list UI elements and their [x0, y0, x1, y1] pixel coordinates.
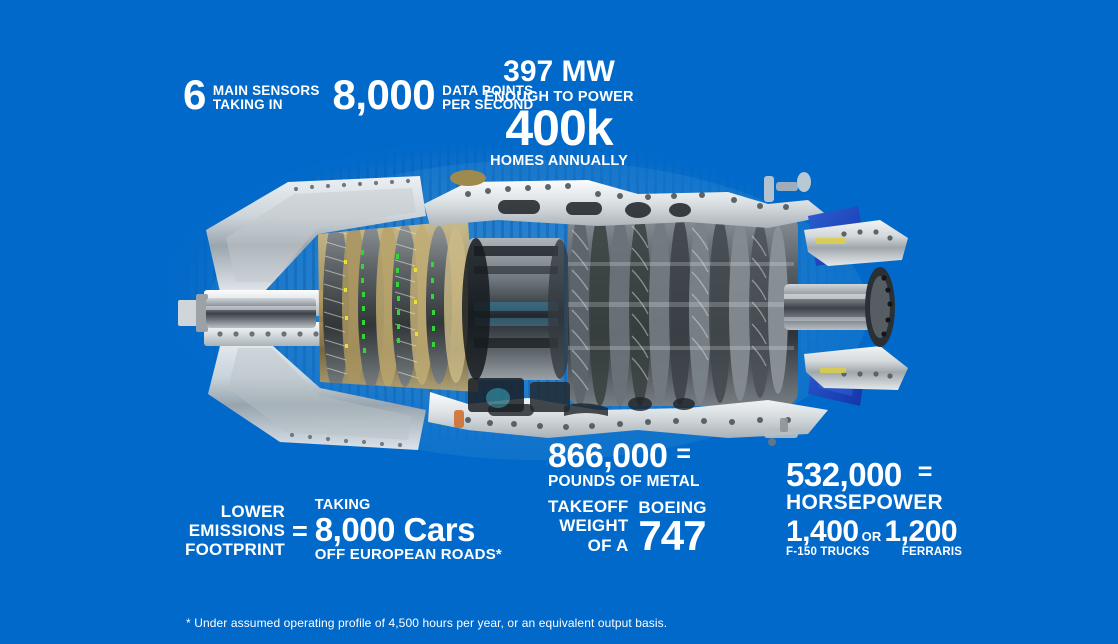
infographic-canvas: 6 MAIN SENSORS TAKING IN 8,000 DATA POIN… — [0, 0, 1118, 644]
emissions-equivalent: TAKING 8,000 Cars OFF EUROPEAN ROADS* — [315, 498, 502, 563]
takeoff-line3: OF A — [548, 536, 628, 555]
horsepower-value-row: 532,000 = — [786, 458, 982, 490]
stat-horsepower: 532,000 = HORSEPOWER 1,400 OR 1,200 F-15… — [786, 458, 982, 559]
emissions-line1: LOWER — [185, 502, 285, 521]
gas-turbine-photo — [168, 142, 908, 472]
takeoff-line1: TAKEOFF — [548, 497, 628, 516]
weight-pounds-value: 866,000 — [548, 441, 667, 472]
weight-comparison-row: TAKEOFF WEIGHT OF A BOEING 747 — [548, 497, 707, 556]
trucks-label: F-150 TRUCKS — [786, 547, 882, 559]
data-rate-label-line1: DATA POINTS — [442, 84, 533, 98]
horsepower-or-label: OR — [862, 530, 882, 543]
boeing-model-number: 747 — [638, 516, 706, 556]
boeing-747-block: BOEING 747 — [638, 499, 706, 556]
data-rate-label-line2: PER SECOND — [442, 98, 533, 112]
stat-sensors: 6 MAIN SENSORS TAKING IN 8,000 DATA POIN… — [183, 76, 533, 115]
stat-emissions: LOWER EMISSIONS FOOTPRINT = TAKING 8,000… — [185, 498, 502, 563]
emissions-line3: FOOTPRINT — [185, 540, 285, 559]
emissions-label: LOWER EMISSIONS FOOTPRINT — [185, 502, 285, 559]
sensor-label-line1: MAIN SENSORS — [213, 84, 320, 98]
emissions-equals-sign: = — [292, 516, 308, 547]
data-rate-label: DATA POINTS PER SECOND — [442, 84, 533, 112]
horsepower-comparison-labels: F-150 TRUCKS FERRARIS — [786, 547, 982, 559]
weight-pounds-label: POUNDS OF METAL — [548, 474, 707, 490]
sensor-label-line2: TAKING IN — [213, 98, 320, 112]
trucks-count: 1,400 — [786, 518, 859, 546]
horsepower-label: HORSEPOWER — [786, 492, 982, 513]
sensor-count-label: MAIN SENSORS TAKING IN — [213, 84, 320, 112]
weight-value-row: 866,000 = — [548, 440, 707, 472]
sensor-count: 6 — [183, 76, 206, 115]
stat-weight: 866,000 = POUNDS OF METAL TAKEOFF WEIGHT… — [548, 440, 707, 556]
power-output-value: 397 MW — [0, 58, 1118, 86]
emissions-cars-value: 8,000 Cars — [315, 513, 502, 548]
horsepower-comparison-row: 1,400 OR 1,200 — [786, 518, 982, 546]
emissions-roads-label: OFF EUROPEAN ROADS* — [315, 547, 502, 563]
takeoff-weight-label: TAKEOFF WEIGHT OF A — [548, 497, 628, 555]
power-caption: ENOUGH TO POWER — [0, 90, 1118, 105]
ferraris-count: 1,200 — [884, 518, 957, 546]
ferraris-label: FERRARIS — [882, 547, 982, 559]
footnote: * Under assumed operating profile of 4,5… — [186, 616, 667, 630]
horsepower-equals-sign: = — [918, 458, 933, 487]
data-rate-value: 8,000 — [333, 76, 436, 115]
horsepower-value: 532,000 — [786, 460, 902, 490]
emissions-line2: EMISSIONS — [185, 521, 285, 540]
turbine-illustration — [168, 142, 908, 472]
weight-equals-sign: = — [676, 440, 691, 469]
takeoff-line2: WEIGHT — [548, 516, 628, 535]
